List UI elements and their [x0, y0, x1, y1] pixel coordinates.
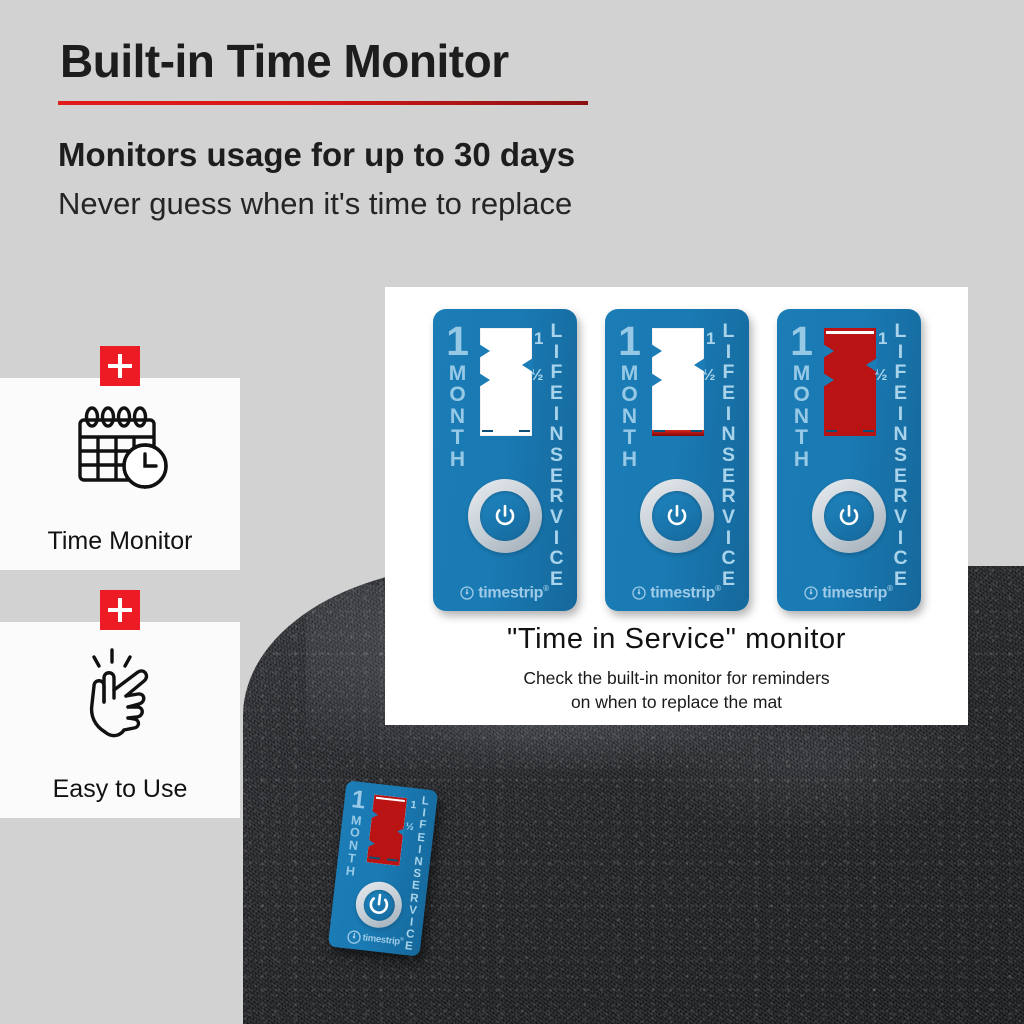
duration-unit-letter: T — [795, 427, 808, 449]
window-tick-right — [519, 430, 530, 432]
power-icon — [664, 503, 690, 529]
side-text-letter: L — [723, 321, 735, 342]
side-text-letter: E — [411, 880, 420, 893]
side-text-letter: F — [895, 362, 907, 383]
side-text-letter: N — [893, 424, 907, 445]
side-text-letter: I — [409, 916, 414, 928]
window-tick-left — [482, 430, 493, 432]
side-text-letter: V — [894, 507, 907, 528]
usage-window — [824, 328, 876, 436]
side-text-letter: R — [721, 486, 735, 507]
window-tick-right — [863, 430, 874, 432]
side-text-letter: V — [550, 507, 563, 528]
power-icon — [492, 503, 518, 529]
timestrip-logo: timestrip® — [777, 584, 921, 602]
side-text-life-in-service: LIFEINSERVICE — [542, 321, 572, 587]
usage-window — [480, 328, 532, 436]
duration-unit-letter: T — [451, 427, 464, 449]
side-text-letter: F — [418, 819, 426, 832]
window-notch-left-lower — [367, 839, 375, 848]
duration-unit-letter: H — [345, 865, 355, 879]
side-text-letter: C — [893, 548, 907, 569]
duration-unit-letter: H — [622, 449, 637, 471]
duration-label: 1 MONTH — [613, 325, 647, 471]
window-tick-left — [826, 430, 837, 432]
power-button — [640, 479, 714, 553]
subtitle-bold: Monitors usage for up to 30 days — [58, 136, 575, 174]
power-button — [468, 479, 542, 553]
side-text-letter: S — [550, 445, 563, 466]
badge-label: Easy to Use — [0, 775, 240, 804]
side-text-letter: L — [421, 795, 429, 808]
duration-unit-letter: O — [793, 384, 809, 406]
window-notch-left-upper — [823, 344, 834, 358]
duration-unit-letter: N — [622, 406, 637, 428]
power-icon — [836, 503, 862, 529]
duration-unit-letter: O — [621, 384, 637, 406]
duration-unit-letter: M — [793, 363, 811, 385]
tapping-hand-icon — [0, 646, 240, 746]
window-notch-right — [522, 358, 533, 372]
window-notch-left-upper — [371, 810, 379, 819]
side-text-letter: E — [722, 466, 735, 487]
timestrip-logo: timestrip® — [605, 584, 749, 602]
duration-number: 1 — [351, 789, 367, 811]
clock-icon — [460, 586, 474, 600]
side-text-life-in-service: LIFEINSERVICE — [886, 321, 916, 587]
window-notch-left-upper — [479, 344, 490, 358]
side-text-letter: I — [554, 342, 559, 363]
window-tick-right — [691, 430, 702, 432]
side-text-letter: F — [723, 362, 735, 383]
power-button-inner — [480, 491, 530, 541]
side-text-letter: I — [726, 342, 731, 363]
window-notch-left-lower — [651, 373, 662, 387]
side-text-letter: I — [898, 342, 903, 363]
power-button-inner — [362, 888, 396, 922]
window-notch-left-lower — [479, 373, 490, 387]
card-just-started: 1 MONTH 1 ½ LIFEINSERVICE — [605, 309, 749, 611]
panel-subcaption-line2: on when to replace the mat — [385, 691, 968, 715]
side-text-letter: I — [554, 404, 559, 425]
window-notch-right — [397, 827, 405, 836]
window-notch-right — [866, 358, 877, 372]
calendar-clock-icon — [0, 404, 240, 496]
duration-unit-letter: N — [450, 406, 465, 428]
duration-unit-letter: H — [450, 449, 465, 471]
monitor-info-panel: 1 MONTH 1 ½ LIFEINSERVICE — [385, 287, 968, 725]
timestrip-brand: timestrip® — [478, 584, 548, 602]
side-text-letter: V — [722, 507, 735, 528]
subtitle-regular: Never guess when it's time to replace — [58, 186, 572, 222]
duration-number: 1 — [790, 325, 813, 359]
side-text-letter: I — [554, 528, 559, 549]
badge-label: Time Monitor — [0, 527, 240, 556]
side-text-letter: R — [893, 486, 907, 507]
feature-badge-time-monitor[interactable]: Time Monitor — [0, 378, 240, 570]
side-text-letter: I — [726, 404, 731, 425]
duration-unit-letter: T — [623, 427, 636, 449]
timestrip-logo: timestrip® — [433, 584, 577, 602]
timestrip-brand: timestrip® — [650, 584, 720, 602]
power-button — [353, 879, 404, 930]
side-text-letter: E — [894, 383, 907, 404]
duration-unit-letter: N — [794, 406, 809, 428]
clock-icon — [804, 586, 818, 600]
side-text-letter: E — [417, 831, 426, 844]
power-button — [812, 479, 886, 553]
side-text-letter: I — [418, 844, 423, 856]
side-text-letter: N — [721, 424, 735, 445]
side-text-letter: F — [551, 362, 563, 383]
side-text-letter: I — [726, 528, 731, 549]
timestrip-brand: timestrip® — [362, 933, 404, 949]
window-top-rule — [826, 331, 874, 334]
plus-icon — [100, 590, 140, 630]
usage-window — [367, 795, 407, 866]
side-text-letter: N — [549, 424, 563, 445]
side-text-letter: I — [422, 807, 427, 819]
usage-window — [652, 328, 704, 436]
window-notch-left-lower — [823, 373, 834, 387]
side-text-letter: C — [721, 548, 735, 569]
duration-unit: MONTH — [449, 363, 467, 471]
duration-unit-letter: M — [621, 363, 639, 385]
side-text-letter: E — [550, 383, 563, 404]
side-text-letter: L — [895, 321, 907, 342]
title-underline-rule — [58, 101, 588, 105]
clock-icon — [346, 929, 361, 944]
power-button-inner — [824, 491, 874, 541]
panel-subcaption: Check the built-in monitor for reminders… — [385, 667, 968, 714]
duration-number: 1 — [446, 325, 469, 359]
window-notch-left-upper — [651, 344, 662, 358]
mat-timestrip: 1 MONTH 1 ½ LIFEINSERVICE — [328, 780, 438, 956]
side-text-letter: N — [414, 855, 424, 868]
duration-unit: MONTH — [621, 363, 639, 471]
side-text-letter: R — [549, 486, 563, 507]
infographic-canvas: Built-in Time Monitor Monitors usage for… — [0, 0, 1024, 1024]
panel-subcaption-line1: Check the built-in monitor for reminders — [385, 667, 968, 691]
window-notch-right — [694, 358, 705, 372]
plus-icon — [100, 346, 140, 386]
timestrip-brand: timestrip® — [822, 584, 892, 602]
side-text-letter: S — [894, 445, 907, 466]
side-text-letter: E — [550, 466, 563, 487]
side-text-letter: E — [722, 383, 735, 404]
duration-unit: MONTH — [345, 814, 363, 879]
card-unused: 1 MONTH 1 ½ LIFEINSERVICE — [433, 309, 577, 611]
duration-unit-letter: M — [449, 363, 467, 385]
side-text-letter: S — [413, 868, 422, 881]
power-icon — [364, 890, 393, 919]
side-text-letter: R — [410, 892, 420, 905]
side-text-life-in-service: LIFEINSERVICE — [714, 321, 744, 587]
duration-label: 1 MONTH — [785, 325, 819, 471]
side-text-letter: I — [898, 404, 903, 425]
side-text-letter: I — [898, 528, 903, 549]
duration-unit-letter: O — [449, 384, 465, 406]
side-text-letter: L — [551, 321, 563, 342]
side-text-letter: E — [894, 466, 907, 487]
duration-unit-letter: H — [794, 449, 809, 471]
duration-unit: MONTH — [793, 363, 811, 471]
feature-badge-easy-to-use[interactable]: Easy to Use — [0, 622, 240, 818]
duration-label: 1 MONTH — [441, 325, 475, 471]
window-tick-left — [654, 430, 665, 432]
clock-icon — [632, 586, 646, 600]
page-title: Built-in Time Monitor — [60, 34, 509, 88]
card-expired: 1 MONTH 1 ½ LIFEINSERVICE — [777, 309, 921, 611]
duration-label: 1 MONTH — [339, 789, 371, 880]
duration-number: 1 — [618, 325, 641, 359]
side-text-letter: C — [549, 548, 563, 569]
side-text-letter: V — [408, 904, 417, 917]
timestrip-card-row: 1 MONTH 1 ½ LIFEINSERVICE — [385, 309, 968, 619]
panel-caption: "Time in Service" monitor — [385, 623, 968, 656]
power-button-inner — [652, 491, 702, 541]
side-text-letter: S — [722, 445, 735, 466]
